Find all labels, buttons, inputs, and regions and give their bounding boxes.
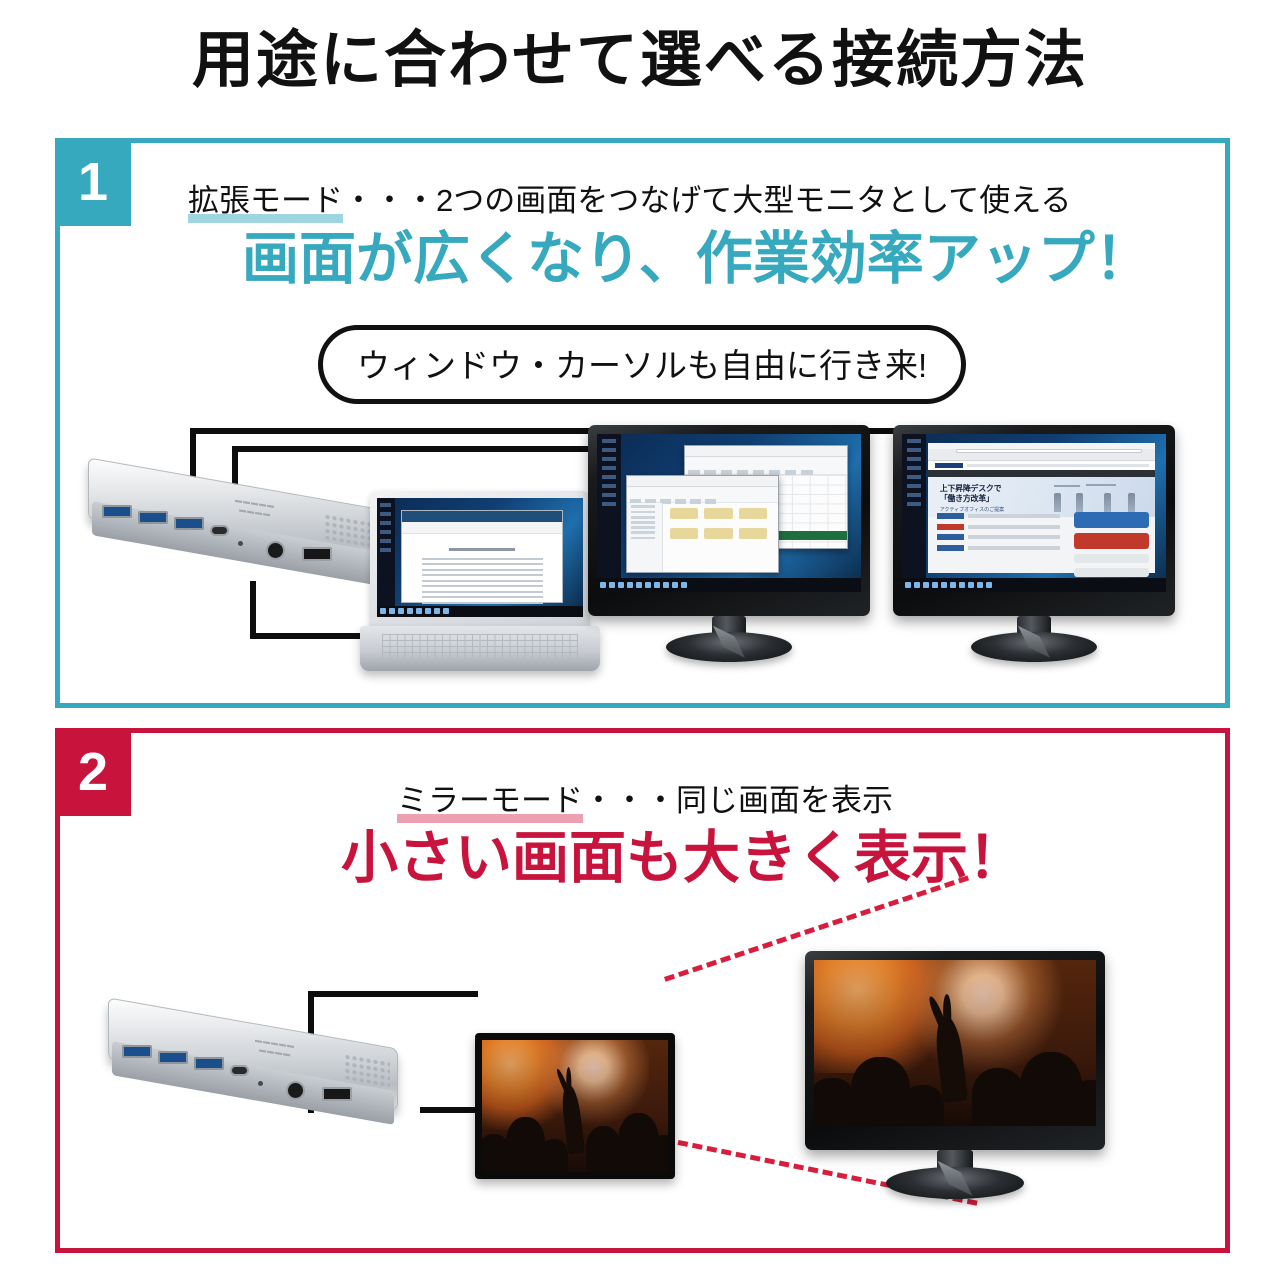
dock-2-hdmi-port [322,1087,352,1101]
monitor-mirror-stand-base [886,1167,1024,1199]
cable-dock-to-laptop-down [250,581,256,639]
dock-usb-a-port-3 [174,517,204,530]
site-logo [935,463,963,468]
section-1-illustration: ▬▬▬▬▬▬▬▬▬ [60,143,1225,703]
monitor-mirror-bezel [805,951,1105,1150]
site-nav [928,470,1155,477]
docking-station-2: ▬▬▬▬▬▬▬▬▬ [108,1023,398,1085]
cta-secondary [1074,533,1149,549]
dock-2-usb-c-port [230,1065,249,1076]
monitor-a-stand-base [666,632,792,662]
infographic-page: 用途に合わせて選べる接続方法 1 拡張モード・・・2つの画面をつなげて大型モニタ… [0,0,1280,1280]
monitor-extend-right: 上下昇降デスクで 「働き方改革」 アクティブオフィスのご提案 [893,425,1175,640]
laptop-1 [360,491,600,671]
site-news-list [937,513,1060,555]
browser-chrome [928,449,1155,461]
monitor-mirror-screen [814,960,1096,1126]
monitor-b-taskbar [902,578,1166,592]
monitor-b-browser-window: 上下昇降デスクで 「働き方改革」 アクティブオフィスのご提案 [928,443,1155,573]
dock-audio-jack [266,541,285,560]
monitor-a-screen [597,434,861,592]
monitor-extend-left [588,425,870,640]
dock-usb-a-port-2 [138,511,168,524]
cta-tertiary [1074,554,1149,563]
monitor-a-bezel [588,425,870,616]
document-ribbon [402,522,561,534]
concert-image-large [814,960,1096,1126]
dock-power-led [238,541,243,546]
cta-quaternary [1074,568,1149,577]
dock-2-usb-a-port-1 [122,1045,152,1058]
site-header [928,461,1155,470]
monitor-b-bezel: 上下昇降デスクで 「働き方改革」 アクティブオフィスのご提案 [893,425,1175,616]
monitor-a-sidebar [597,434,621,578]
hero-illustration [1046,482,1146,512]
cta-primary [1074,512,1149,528]
laptop-screen [377,498,584,617]
browser-address-bar [956,449,1142,453]
document-titlebar [402,511,561,522]
cable-screen-feed [420,1107,478,1113]
document-body [402,534,561,610]
dock-hdmi-port [302,547,332,561]
page-title: 用途に合わせて選べる接続方法 [0,28,1280,93]
concert-image-small [482,1040,668,1172]
section-panel-extend: 1 拡張モード・・・2つの画面をつなげて大型モニタとして使える 画面が広くなり、… [55,138,1230,708]
laptop-keyboard [360,626,600,671]
section-2-illustration: ▬▬▬▬▬▬▬▬▬ [60,733,1225,1248]
monitor-b-sidebar [902,434,926,578]
cable-dock-to-screen-top [308,991,478,997]
laptop-document-window [401,510,562,603]
section-panel-mirror: 2 ミラーモード・・・同じ画面を表示 小さい画面も大きく表示！ ▬▬▬▬▬▬▬▬… [55,728,1230,1253]
source-screen-frame [475,1033,675,1179]
docking-station-1: ▬▬▬▬▬▬▬▬▬ [88,483,378,545]
source-screen-display [482,1040,668,1172]
dock-2-audio-jack [286,1081,305,1100]
dock-2-usb-a-port-2 [158,1051,188,1064]
source-screen [475,1033,675,1179]
laptop-taskbar [377,606,584,617]
laptop-taskbar-left [377,498,396,606]
dock-usb-a-port-1 [102,505,132,518]
site-cta-buttons [1074,512,1149,582]
monitor-a-taskbar [597,578,861,592]
monitor-b-screen: 上下昇降デスクで 「働き方改革」 アクティブオフィスのご提案 [902,434,1166,592]
dock-2-power-led [258,1081,263,1086]
dock-usb-c-port [210,525,229,536]
monitor-b-stand-base [971,632,1097,662]
laptop-lid [370,491,591,628]
monitor-mirror-large [805,951,1105,1179]
dock-2-usb-a-port-3 [194,1057,224,1070]
monitor-a-explorer-window [626,475,779,573]
site-hero-banner: 上下昇降デスクで 「働き方改革」 アクティブオフィスのご提案 [928,477,1155,517]
